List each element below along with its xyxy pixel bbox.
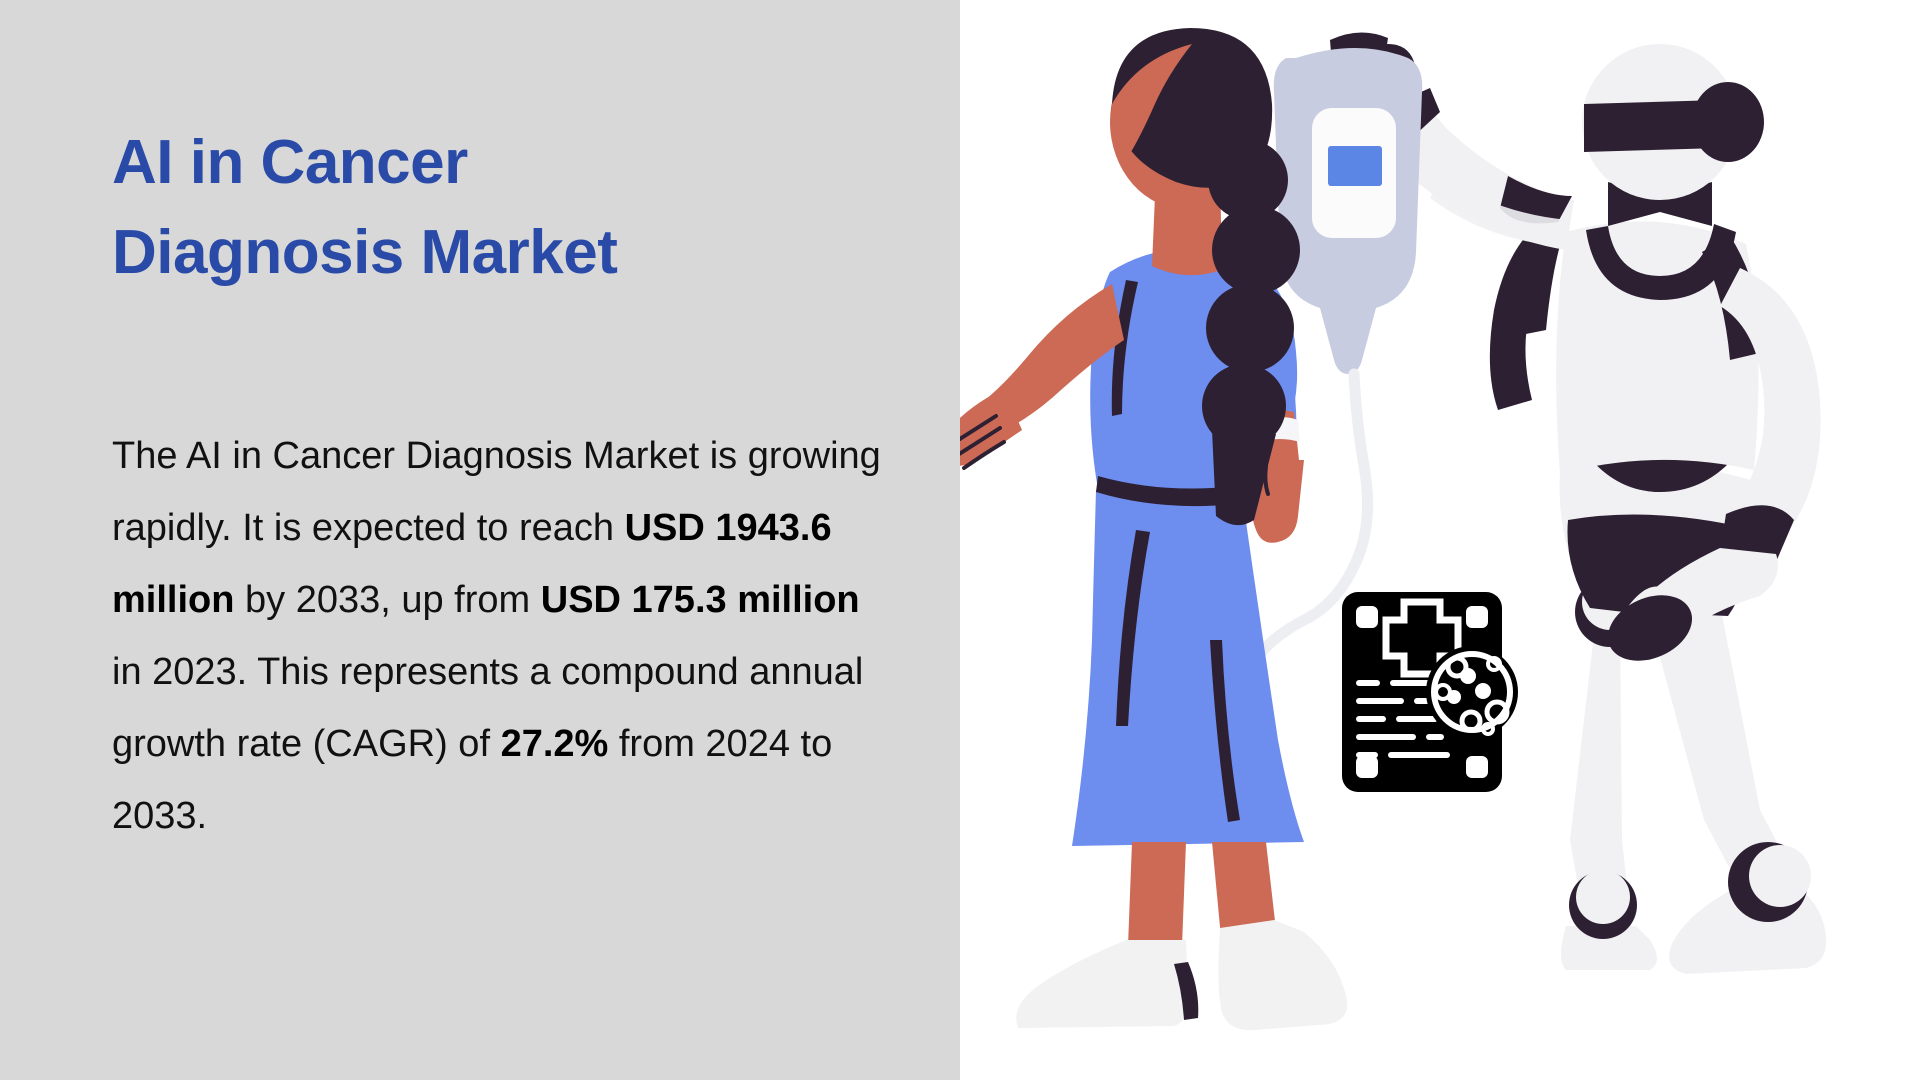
- healthcare-ai-illustration: [960, 0, 1920, 1080]
- market-summary-paragraph: The AI in Cancer Diagnosis Market is gro…: [112, 420, 887, 852]
- illustration-panel: [960, 0, 1920, 1080]
- market-figure-emphasis: 27.2%: [501, 723, 609, 765]
- medical-record-icon: [1342, 592, 1518, 792]
- page-title-line-1: AI in Cancer: [112, 118, 872, 208]
- page-title: AI in Cancer Diagnosis Market: [112, 118, 872, 298]
- infographic-root: AI in Cancer Diagnosis Market The AI in …: [0, 0, 1920, 1080]
- market-summary-text: by 2033, up from: [234, 579, 540, 621]
- robot-figure: [1354, 44, 1826, 974]
- page-title-line-2: Diagnosis Market: [112, 208, 872, 298]
- text-panel: AI in Cancer Diagnosis Market The AI in …: [0, 0, 960, 1080]
- market-figure-emphasis: USD 175.3 million: [541, 579, 860, 621]
